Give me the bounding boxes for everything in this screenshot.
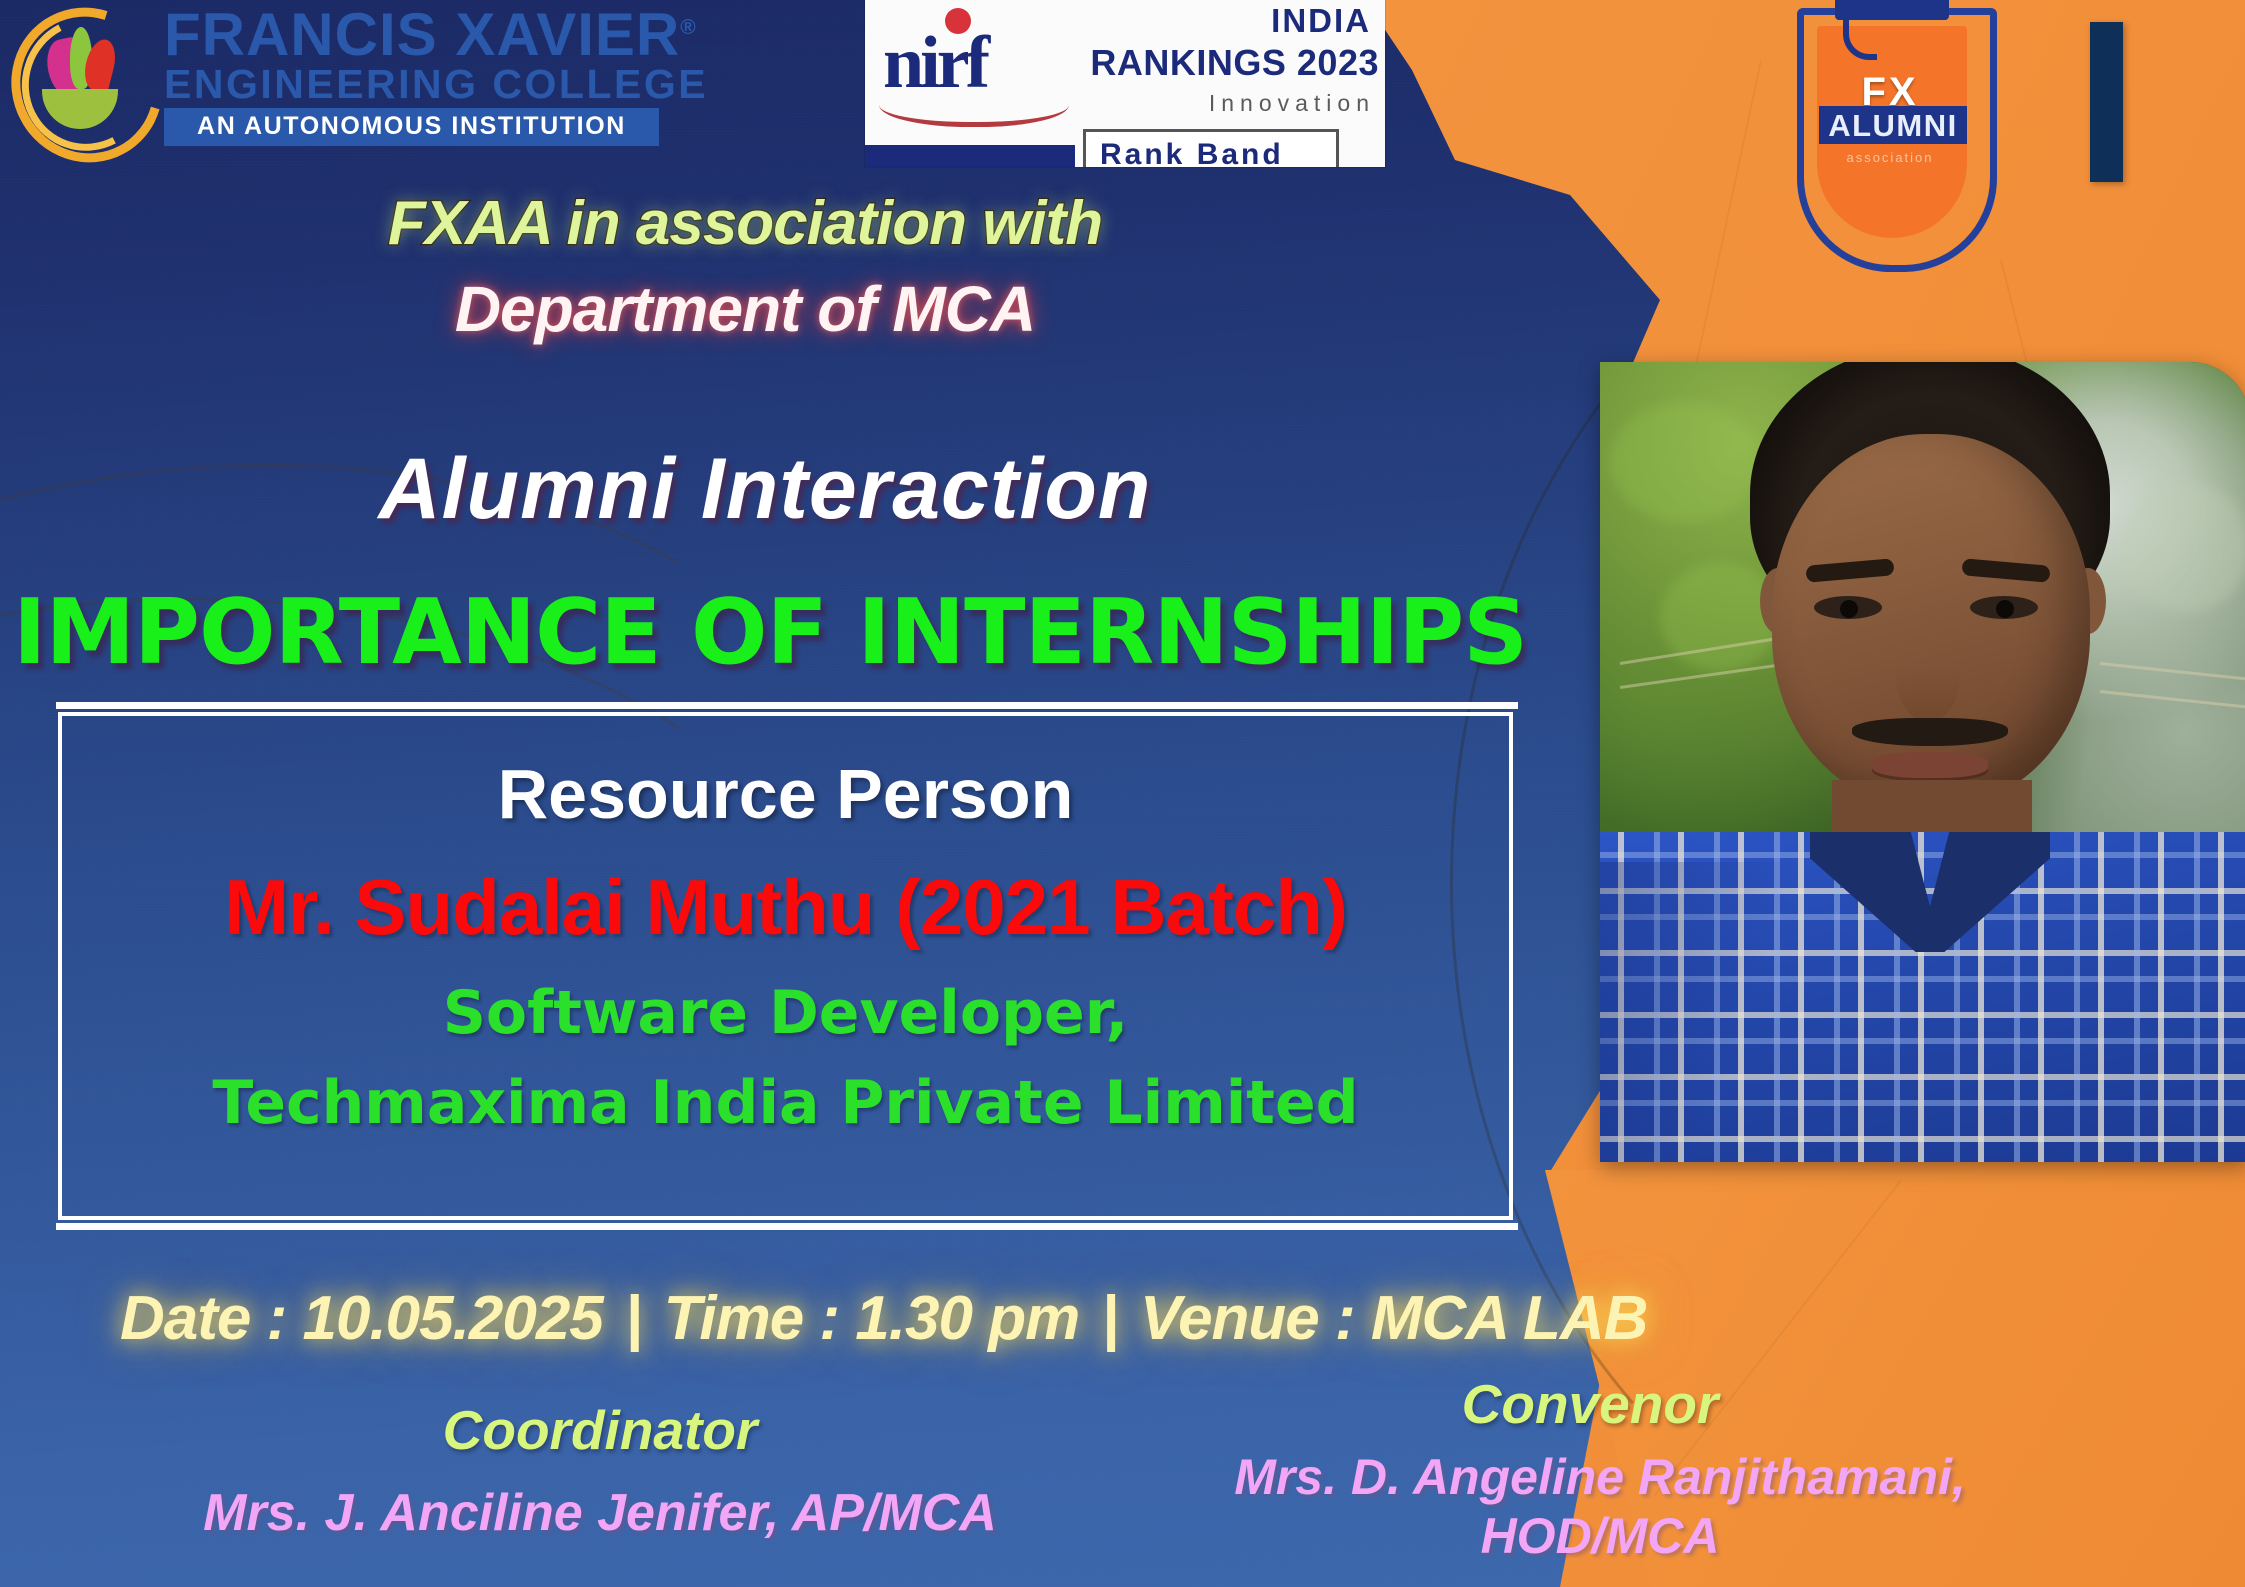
schedule-separator: | — [1079, 1284, 1140, 1353]
schedule-line: Date : 10.05.2025 | Time : 1.30 pm | Ven… — [120, 1283, 2020, 1354]
decorative-blue-bar — [2090, 22, 2123, 182]
coordinator-name: Mrs. J. Anciline Jenifer, AP/MCA — [110, 1483, 1090, 1543]
nirf-dot-icon — [945, 8, 971, 34]
face — [1772, 434, 2090, 806]
nirf-rank-band-label: Rank Band — [1100, 138, 1284, 167]
event-poster: FRANCIS XAVIER® ENGINEERING COLLEGE AN A… — [0, 0, 2245, 1587]
college-autonomous-banner: AN AUTONOMOUS INSTITUTION — [164, 108, 659, 146]
college-name-line2: ENGINEERING COLLEGE — [164, 63, 708, 106]
resource-person-heading: Resource Person — [58, 754, 1513, 834]
event-title-heading: IMPORTANCE OF INTERNSHIPS — [0, 580, 1540, 685]
venue-label: Venue : — [1140, 1284, 1371, 1353]
nirf-ranking-badge: nirf INDIA RANKINGS 2023 Innovation Rank… — [865, 0, 1385, 167]
schedule-separator: | — [603, 1284, 664, 1353]
fx-alumni-badge: FX ALUMNI association — [1775, 0, 2005, 290]
date-label: Date : — [120, 1284, 302, 1353]
coordinator-title: Coordinator — [150, 1398, 1050, 1462]
alumni-label: ALUMNI — [1775, 108, 2011, 144]
nirf-category-label: Innovation — [1209, 90, 1375, 117]
resource-person-name: Mr. Sudalai Muthu (2021 Batch) — [58, 862, 1513, 953]
nirf-rank-band-box: Rank Band — [1083, 129, 1339, 167]
convenor-name-line1: Mrs. D. Angeline Ranjithamani, — [1234, 1449, 1966, 1505]
registered-mark: ® — [680, 16, 696, 39]
nirf-rankings-label: RANKINGS 2023 — [1090, 42, 1379, 84]
convenor-name-line2: HOD/MCA — [1481, 1508, 1720, 1564]
time-value: 1.30 pm — [855, 1284, 1079, 1353]
nirf-book-icon — [879, 102, 1069, 127]
department-line: Department of MCA — [0, 272, 1490, 346]
college-logo: FRANCIS XAVIER® ENGINEERING COLLEGE AN A… — [0, 0, 760, 152]
resource-person-company: Techmaxima India Private Limited — [58, 1068, 1513, 1138]
resource-person-role: Software Developer, — [58, 978, 1513, 1048]
venue-value: MCA LAB — [1371, 1284, 1648, 1353]
event-type-heading: Alumni Interaction — [0, 440, 1530, 539]
college-emblem-icon — [6, 3, 152, 149]
nirf-wordmark: nirf — [883, 26, 986, 100]
alumni-association-label: association — [1775, 150, 2005, 165]
time-label: Time : — [664, 1284, 856, 1353]
nirf-india-label: INDIA — [1271, 2, 1371, 40]
nirf-logo-icon: nirf — [879, 6, 1079, 124]
college-name-line1: FRANCIS XAVIER® — [164, 6, 708, 63]
date-value: 10.05.2025 — [302, 1284, 602, 1353]
convenor-name: Mrs. D. Angeline Ranjithamani,HOD/MCA — [1200, 1448, 2000, 1566]
nirf-blue-bar — [865, 145, 1075, 167]
convenor-title: Convenor — [1200, 1372, 1980, 1436]
association-line: FXAA in association with — [0, 188, 1490, 259]
speaker-photo — [1600, 362, 2245, 1162]
